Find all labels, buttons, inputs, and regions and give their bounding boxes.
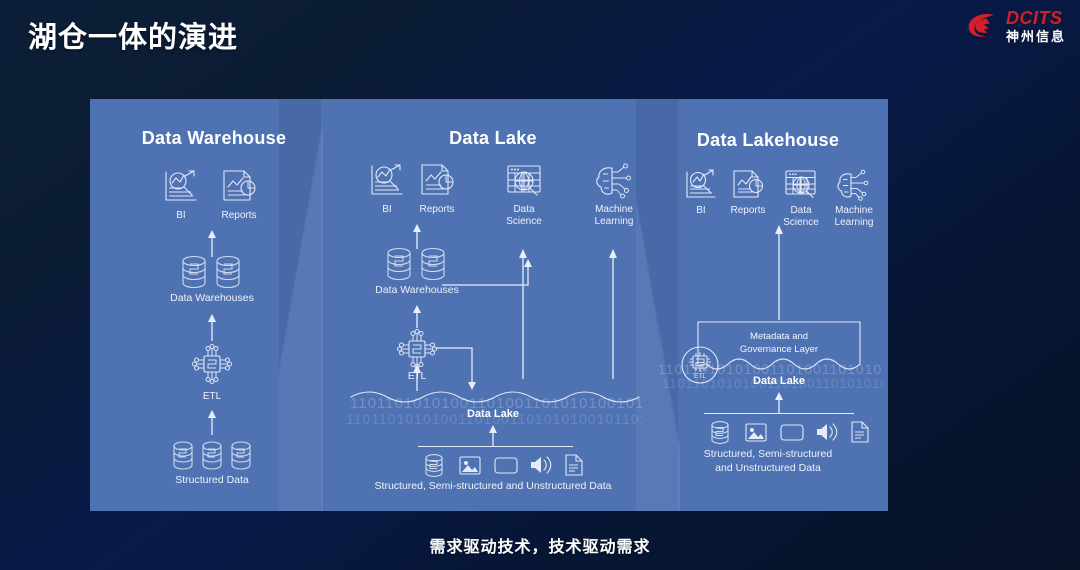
report-document-chart-icon	[417, 162, 457, 200]
logo-name-cn: 神州信息	[1006, 30, 1066, 43]
consumer-label-bi: BI	[151, 210, 211, 222]
video-play-icon	[779, 423, 805, 443]
processing-label-etl: ETL	[182, 391, 242, 403]
brain-circuit-icon	[834, 168, 870, 202]
flow-arrow-up	[205, 314, 219, 342]
lake-label: Data Lake	[729, 375, 829, 387]
flow-arrow-up	[205, 410, 219, 436]
sources-bus-line	[704, 413, 854, 414]
sources-label: Structured, Semi-structured and Unstruct…	[338, 480, 648, 492]
report-document-chart-icon	[730, 168, 766, 202]
connector-lake-to-science	[516, 249, 530, 379]
image-photo-icon	[744, 422, 768, 444]
audio-speaker-icon	[814, 421, 840, 443]
governance-label: Metadata and Governance Layer	[696, 330, 862, 356]
sources-bus-line	[418, 446, 573, 447]
dcits-swirl-icon	[966, 10, 1000, 42]
logo-name-en: DCITS	[1006, 9, 1066, 27]
database-cylinder-icon	[203, 442, 221, 469]
document-file-icon	[563, 453, 585, 477]
consumer-label-reports: Reports	[209, 210, 269, 222]
panel-data-lakehouse: Data Lakehouse BI Reports	[648, 99, 888, 511]
video-play-icon	[493, 456, 519, 476]
panel-title: Data Warehouse	[90, 128, 338, 149]
flow-arrow-up-governance	[772, 225, 786, 321]
flow-arrow-up	[205, 230, 219, 258]
consumer-label-data-science: Data Science	[494, 204, 554, 228]
consumer-label-reports: Reports	[407, 204, 467, 216]
database-cylinder-icon	[709, 421, 731, 445]
storage-label: Data Warehouses	[142, 292, 282, 304]
database-cylinder-icon	[388, 249, 410, 280]
flow-arrow-up	[486, 425, 500, 447]
panel-title: Data Lake	[338, 128, 648, 149]
bi-chart-magnifier-icon	[683, 168, 719, 202]
consumer-label-machine-learning: Machine Learning	[826, 205, 882, 229]
chip-circuit-icon	[190, 342, 234, 386]
database-cylinder-icon	[183, 257, 205, 288]
database-cylinder-group	[180, 255, 244, 291]
database-cylinder-icon	[232, 442, 250, 469]
consumer-label-bi: BI	[676, 205, 726, 217]
panel-data-warehouse: Data Warehouse BI Reports	[90, 99, 338, 511]
document-file-icon	[849, 420, 871, 444]
browser-globe-magnifier-icon	[504, 162, 544, 200]
slide: 湖仓一体的演进 DCITS 神州信息 Data Warehouse	[0, 0, 1080, 570]
audio-speaker-icon	[528, 454, 554, 476]
flow-arrow-up	[410, 305, 424, 329]
panel-data-lake: Data Lake BI Reports	[338, 99, 648, 511]
database-cylinder-icon	[217, 257, 239, 288]
brain-circuit-icon	[593, 162, 633, 200]
database-cylinder-icon	[423, 454, 445, 478]
database-cylinder-icon	[422, 249, 444, 280]
report-document-chart-icon	[219, 168, 259, 206]
brand-logo: DCITS 神州信息	[966, 9, 1066, 43]
database-cylinder-icon	[174, 442, 192, 469]
panel-title: Data Lakehouse	[648, 130, 888, 151]
consumer-label-machine-learning: Machine Learning	[583, 204, 645, 228]
sources-label: Structured, Semi-structured and Unstruct…	[648, 447, 888, 475]
bi-chart-magnifier-icon	[367, 162, 407, 200]
flow-arrow-up	[772, 392, 786, 414]
diagram-card: Data Warehouse BI Reports	[90, 99, 888, 511]
footer-caption: 需求驱动技术，技术驱动需求	[0, 533, 1080, 557]
consumer-label-reports: Reports	[720, 205, 776, 217]
database-cylinder-group	[172, 441, 252, 473]
lake-label: Data Lake	[443, 408, 543, 420]
database-cylinder-group	[385, 247, 449, 283]
browser-globe-magnifier-icon	[783, 168, 819, 202]
storage-label: Data Warehouses	[347, 284, 487, 296]
connector-lake-to-ml	[606, 249, 620, 379]
page-title: 湖仓一体的演进	[28, 14, 238, 56]
sources-label: Structured Data	[142, 474, 282, 486]
bi-chart-magnifier-icon	[161, 168, 201, 206]
image-photo-icon	[458, 455, 482, 477]
